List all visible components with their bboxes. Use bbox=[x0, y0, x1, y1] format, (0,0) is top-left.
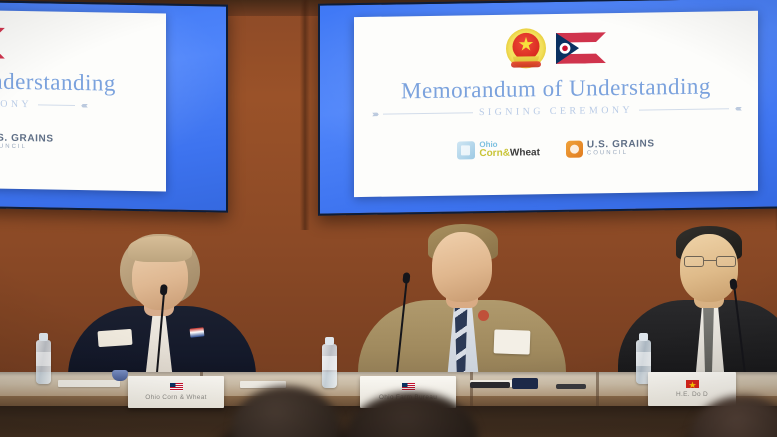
chevron-right-icon: ‹‹‹‹‹ bbox=[735, 104, 740, 113]
paper-1 bbox=[58, 380, 120, 387]
emblem-row-right bbox=[354, 25, 758, 71]
us-grains-council-logo: U.S. GRAINS COUNCIL bbox=[0, 133, 54, 152]
water-bottle-2 bbox=[322, 344, 337, 388]
usgc-sub-text: COUNCIL bbox=[0, 144, 54, 151]
logo-row-left: Ohio Corn&Wheat U.S. GRAINS COUNCIL bbox=[0, 129, 104, 152]
table-seam-3 bbox=[596, 372, 599, 408]
nameplate-1: Ohio Corn & Wheat bbox=[128, 376, 224, 408]
projection-screen-left: Memorandum of Understanding ››››› SIGNIN… bbox=[0, 0, 228, 213]
chevron-left-icon: ››››› bbox=[372, 110, 377, 119]
device-cable bbox=[556, 384, 586, 389]
conference-room-photo: Memorandum of Understanding ››››› SIGNIN… bbox=[0, 0, 777, 437]
device-eyeglasses bbox=[470, 382, 510, 388]
us-grains-council-logo: U.S. GRAINS COUNCIL bbox=[566, 139, 655, 157]
ocw-word-2: Wheat bbox=[510, 147, 540, 158]
slide-title-right: Memorandum of Understanding bbox=[354, 73, 758, 105]
panelist-2-name-badge bbox=[494, 329, 531, 354]
chevron-right-icon: ‹‹‹‹‹ bbox=[81, 101, 86, 110]
water-bottle-1 bbox=[36, 340, 51, 384]
rule-left bbox=[383, 112, 473, 114]
ohio-corn-wheat-logo: Ohio Corn&Wheat bbox=[457, 140, 540, 159]
nameplate-1-text: Ohio Corn & Wheat bbox=[145, 394, 206, 401]
vietnam-emblem-icon bbox=[506, 28, 546, 69]
slide-left: Memorandum of Understanding ››››› SIGNIN… bbox=[0, 8, 166, 191]
panelist-3 bbox=[630, 226, 777, 384]
us-flag-icon bbox=[170, 383, 183, 391]
slide-subtitle-right: SIGNING CEREMONY bbox=[479, 105, 633, 118]
slide-right: Memorandum of Understanding ››››› SIGNIN… bbox=[354, 11, 758, 197]
emblem-row-left bbox=[0, 19, 104, 64]
slide-title-left: Memorandum of Understanding bbox=[0, 65, 104, 96]
logo-row-right: Ohio Corn&Wheat U.S. GRAINS COUNCIL bbox=[354, 137, 758, 161]
slide-subtitle-left: SIGNING CEREMONY bbox=[0, 97, 32, 111]
panelist-2-head bbox=[432, 232, 492, 302]
rule-right bbox=[38, 104, 75, 106]
vietnam-flag-icon bbox=[686, 380, 699, 388]
us-flag-icon bbox=[402, 383, 415, 391]
panelist-3-head bbox=[680, 234, 738, 302]
lapel-pin-icon bbox=[478, 310, 489, 321]
us-flag-lapel-pin-icon bbox=[190, 327, 205, 337]
usgc-sub-text: COUNCIL bbox=[587, 149, 655, 156]
ocw-amp: & bbox=[503, 148, 510, 159]
panelist-1-hair-front bbox=[128, 236, 192, 262]
eyeglasses-icon bbox=[684, 256, 736, 267]
nameplate-3-text: H.E. Do D bbox=[676, 391, 708, 398]
device-remote bbox=[512, 378, 538, 389]
ohio-flag-icon bbox=[0, 26, 5, 58]
ocw-mark-icon bbox=[457, 141, 475, 159]
slide-subtitle-row-right: ››››› SIGNING CEREMONY ‹‹‹‹‹ bbox=[354, 103, 758, 120]
panelist-1-name-badge bbox=[97, 329, 132, 347]
table-seam-2 bbox=[470, 372, 473, 408]
panelist-2 bbox=[358, 222, 568, 384]
wall-seam-left bbox=[300, 0, 310, 230]
rule-right bbox=[639, 108, 729, 110]
ohio-flag-icon bbox=[556, 32, 606, 64]
projection-screen-right: Memorandum of Understanding ››››› SIGNIN… bbox=[318, 0, 777, 216]
usgc-mark-icon bbox=[566, 140, 583, 157]
slide-subtitle-row-left: ››››› SIGNING CEREMONY ‹‹‹‹‹ bbox=[0, 95, 104, 111]
ocw-word-1: Corn bbox=[479, 148, 502, 159]
